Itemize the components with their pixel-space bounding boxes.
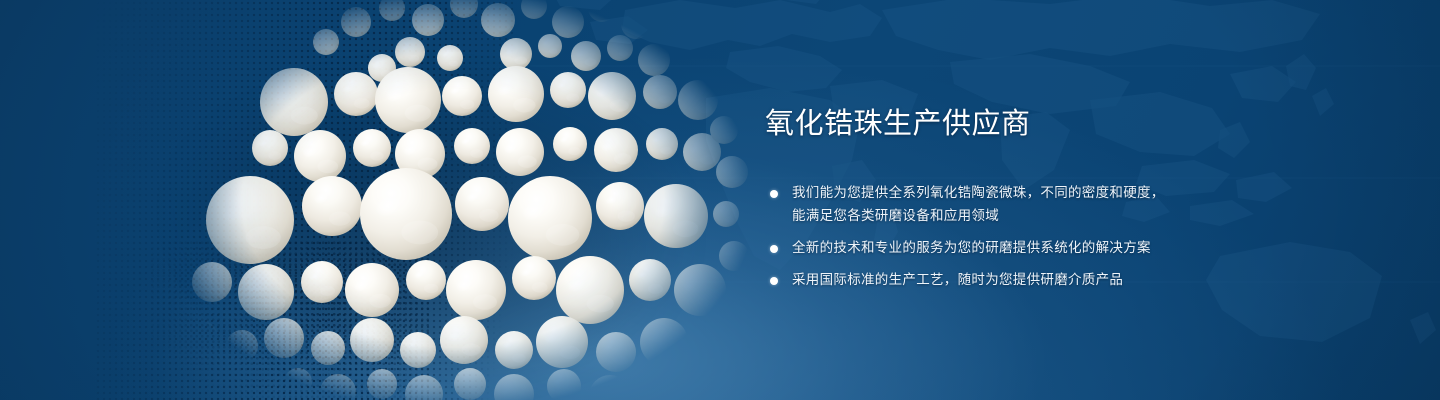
banner-headline: 氧化锆珠生产供应商 [765, 108, 1235, 138]
hero-banner: 氧化锆珠生产供应商 我们能为您提供全系列氧化锆陶瓷微珠，不同的密度和硬度， 能满… [0, 0, 1440, 400]
feature-bullet-item: 采用国际标准的生产工艺，随时为您提供研磨介质产品 [765, 269, 1235, 292]
feature-bullet-list: 我们能为您提供全系列氧化锆陶瓷微珠，不同的密度和硬度， 能满足您各类研磨设备和应… [765, 182, 1235, 292]
bullet-text-line-1: 全新的技术和专业的服务为您的研磨提供系统化的解决方案 [792, 240, 1151, 256]
bullet-dot-icon [770, 277, 778, 285]
bullet-dot-icon [770, 190, 778, 198]
feature-bullet-item: 我们能为您提供全系列氧化锆陶瓷微珠，不同的密度和硬度， 能满足您各类研磨设备和应… [765, 182, 1235, 228]
bullet-text-line-1: 我们能为您提供全系列氧化锆陶瓷微珠，不同的密度和硬度， [792, 185, 1165, 201]
banner-copy: 氧化锆珠生产供应商 我们能为您提供全系列氧化锆陶瓷微珠，不同的密度和硬度， 能满… [765, 108, 1235, 292]
feature-bullet-item: 全新的技术和专业的服务为您的研磨提供系统化的解决方案 [765, 237, 1235, 260]
bullet-text-line-2: 能满足您各类研磨设备和应用领域 [792, 205, 1235, 228]
bullet-text-line-1: 采用国际标准的生产工艺，随时为您提供研磨介质产品 [792, 272, 1123, 288]
bullet-dot-icon [770, 245, 778, 253]
